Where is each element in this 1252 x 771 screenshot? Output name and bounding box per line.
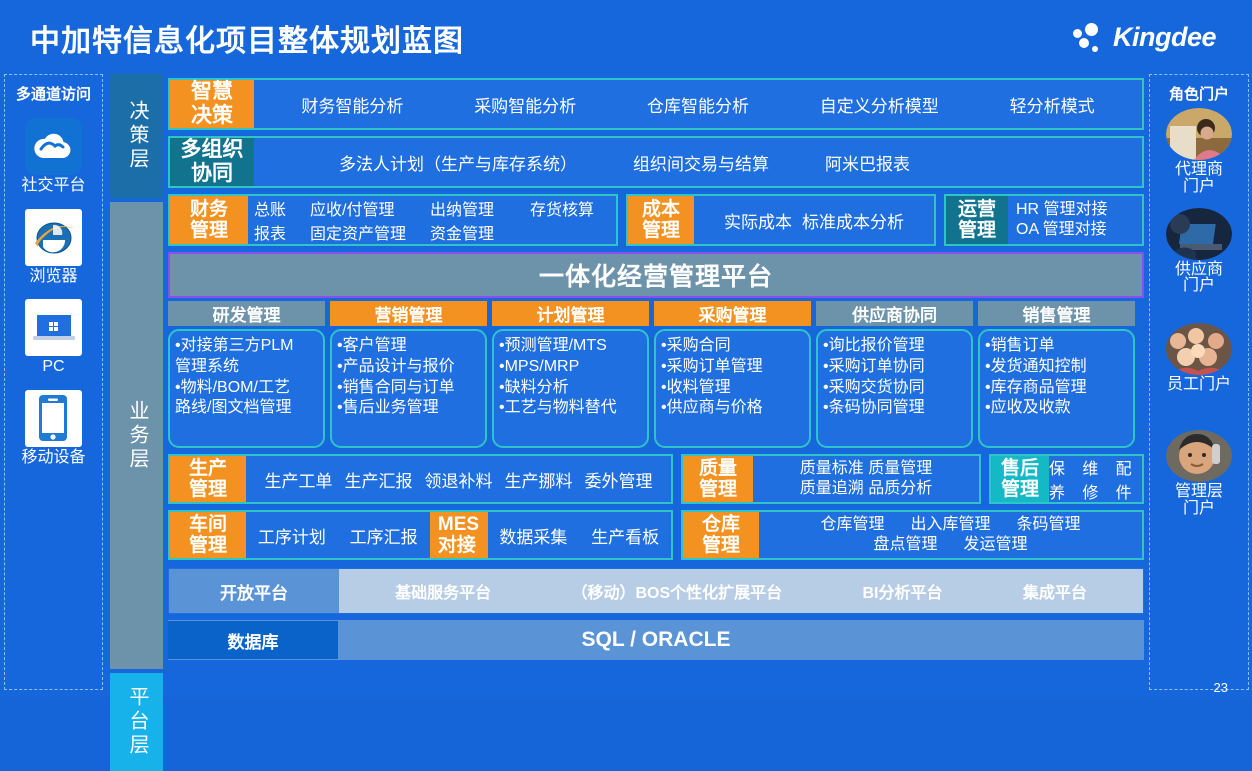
list-item[interactable]: •供应商与价格 bbox=[661, 398, 805, 419]
column-sales-body: •销售订单 •发货通知控制 •库存商品管理 •应收及收款 bbox=[978, 329, 1135, 448]
workshop-items-left: 工序计划 工序汇报 bbox=[246, 512, 430, 558]
column-planning[interactable]: 计划管理 •预测管理/MTS •MPS/MRP •缺料分析 •工艺与物料替代 bbox=[492, 301, 649, 448]
operations-block[interactable]: 运营 管理 HR 管理对接 OA 管理对接 bbox=[944, 194, 1144, 246]
list-item[interactable]: •采购订单管理 bbox=[661, 357, 805, 378]
quality-line-1[interactable]: 质量标准 质量管理 bbox=[800, 459, 932, 479]
workshop-row: 车间 管理 工序计划 工序汇报 MES 对接 数据采集 生产看板 仓库 管理 bbox=[168, 510, 1144, 560]
layer-label-decision: 决策层 bbox=[110, 74, 163, 198]
cost-items: 实际成本 标准成本分析 bbox=[694, 196, 934, 244]
right-sidebar-heading: 角色门户 bbox=[1169, 83, 1229, 104]
item-fund-mgmt[interactable]: 资金管理 bbox=[430, 220, 530, 244]
item-production-report[interactable]: 生产汇报 bbox=[345, 467, 413, 492]
warehouse-items: 仓库管理 出入库管理 条码管理 盘点管理 发运管理 bbox=[759, 512, 1142, 558]
item-standard-cost[interactable]: 标准成本分析 bbox=[802, 208, 904, 233]
smart-decision-items: 财务智能分析 采购智能分析 仓库智能分析 自定义分析模型 轻分析模式 bbox=[254, 80, 1142, 128]
workshop-tag: 车间 管理 bbox=[170, 512, 246, 558]
right-portal-sidebar: 角色门户 代理商 门户 bbox=[1149, 74, 1249, 690]
portal-supplier-label: 供应商 门户 bbox=[1175, 262, 1223, 296]
portal-employee[interactable]: 员工门户 bbox=[1166, 323, 1232, 394]
list-item[interactable]: •缺料分析 bbox=[499, 378, 643, 399]
item-finance-analysis[interactable]: 财务智能分析 bbox=[301, 92, 403, 117]
database-row: 数据库 SQL / ORACLE bbox=[168, 620, 1144, 660]
channel-browser[interactable]: 浏览器 bbox=[25, 209, 82, 286]
left-channel-sidebar: 多通道访问 社交平台 浏览器 bbox=[4, 74, 103, 690]
list-item[interactable]: •产品设计与报价 bbox=[337, 357, 481, 378]
quality-line-2[interactable]: 质量追溯 品质分析 bbox=[800, 479, 932, 499]
internet-explorer-icon-svg bbox=[29, 213, 79, 261]
avatar bbox=[1166, 430, 1232, 482]
list-item[interactable]: •客户管理 bbox=[337, 336, 481, 357]
list-item[interactable]: •采购订单协同 bbox=[823, 357, 967, 378]
cloud-icon-svg bbox=[31, 132, 75, 162]
item-repair[interactable]: 维修 bbox=[1082, 455, 1108, 503]
after-sales-tag: 售后 管理 bbox=[991, 456, 1049, 502]
quality-block[interactable]: 质量 管理 质量标准 质量管理 质量追溯 品质分析 bbox=[681, 454, 981, 504]
item-process-plan[interactable]: 工序计划 bbox=[258, 523, 326, 548]
cost-block[interactable]: 成本 管理 实际成本 标准成本分析 bbox=[626, 194, 936, 246]
channel-mobile[interactable]: 移动设备 bbox=[21, 390, 85, 467]
item-parts[interactable]: 配件 bbox=[1116, 455, 1142, 503]
item-data-collection[interactable]: 数据采集 bbox=[499, 523, 567, 548]
avatar bbox=[1166, 208, 1232, 260]
column-purchasing[interactable]: 采购管理 •采购合同 •采购订单管理 •收料管理 •供应商与价格 bbox=[654, 301, 811, 448]
manufacturing-block[interactable]: 生产 管理 生产工单 生产汇报 领退补料 生产挪料 委外管理 bbox=[168, 454, 673, 504]
column-marketing-body: •客户管理 •产品设计与报价 •销售合同与订单 •售后业务管理 bbox=[330, 329, 487, 448]
column-rd-body: •对接第三方PLM 管理系统 •物料/BOM/工艺 路线/图文档管理 bbox=[168, 329, 325, 448]
avatar-manager-icon bbox=[1166, 430, 1232, 482]
mobile-phone-icon-svg bbox=[36, 393, 70, 443]
item-barcode-mgmt[interactable]: 条码管理 bbox=[1017, 515, 1081, 535]
item-shipping-mgmt[interactable]: 发运管理 bbox=[964, 535, 1028, 555]
item-basic-service-platform[interactable]: 基础服务平台 bbox=[395, 579, 491, 603]
column-sales-title: 销售管理 bbox=[978, 301, 1135, 326]
item-light-analysis-mode[interactable]: 轻分析模式 bbox=[1010, 92, 1095, 117]
column-marketing-title: 营销管理 bbox=[330, 301, 487, 326]
item-inventory-acct[interactable]: 存货核算 bbox=[530, 196, 620, 220]
page-header: 中加特信息化项目整体规划蓝图 Kingdee bbox=[0, 0, 1252, 74]
portal-management-label: 管理层 门户 bbox=[1175, 484, 1223, 518]
list-item[interactable]: •对接第三方PLM bbox=[175, 336, 319, 357]
layer-label-decision-text: 决策层 bbox=[124, 100, 149, 172]
item-amoeba-report[interactable]: 阿米巴报表 bbox=[825, 150, 910, 175]
channel-mobile-label: 移动设备 bbox=[21, 449, 85, 467]
list-item[interactable]: •工艺与物料替代 bbox=[499, 398, 643, 419]
column-marketing[interactable]: 营销管理 •客户管理 •产品设计与报价 •销售合同与订单 •售后业务管理 bbox=[330, 301, 487, 448]
item-stocktake-mgmt[interactable]: 盘点管理 bbox=[873, 535, 937, 555]
layer-label-platform: 平台层 bbox=[110, 673, 163, 771]
item-work-order[interactable]: 生产工单 bbox=[265, 467, 333, 492]
item-integration-platform[interactable]: 集成平台 bbox=[1023, 579, 1087, 603]
warehouse-line-1: 仓库管理 出入库管理 条码管理 bbox=[820, 515, 1080, 535]
channel-social-label: 社交平台 bbox=[21, 177, 85, 195]
multi-org-items: 多法人计划（生产与库存系统） 组织间交易与结算 阿米巴报表 bbox=[254, 138, 1142, 186]
item-multi-entity-plan[interactable]: 多法人计划（生产与库存系统） bbox=[339, 150, 577, 175]
item-process-report[interactable]: 工序汇报 bbox=[350, 523, 418, 548]
page-title: 中加特信息化项目整体规划蓝图 bbox=[30, 16, 464, 60]
list-item[interactable]: •条码协同管理 bbox=[823, 398, 967, 419]
item-reports[interactable]: 报表 bbox=[254, 220, 310, 244]
list-item[interactable]: •发货通知控制 bbox=[985, 357, 1129, 378]
avatar-employee-icon bbox=[1166, 323, 1232, 375]
page-number: 23 bbox=[1214, 680, 1228, 695]
operations-items: HR 管理对接 OA 管理对接 bbox=[1008, 196, 1142, 244]
item-bi-analysis-platform[interactable]: BI分析平台 bbox=[862, 579, 942, 603]
column-rd[interactable]: 研发管理 •对接第三方PLM 管理系统 •物料/BOM/工艺 路线/图文档管理 bbox=[168, 301, 325, 448]
avatar-supplier-icon bbox=[1166, 208, 1232, 260]
list-item[interactable]: •销售订单 bbox=[985, 336, 1129, 357]
laptop-icon bbox=[25, 299, 82, 356]
list-item[interactable]: •物料/BOM/工艺 bbox=[175, 378, 319, 399]
manufacturing-items: 生产工单 生产汇报 领退补料 生产挪料 委外管理 bbox=[246, 456, 671, 502]
item-warehouse-analysis[interactable]: 仓库智能分析 bbox=[647, 92, 749, 117]
cloud-icon bbox=[25, 118, 82, 175]
finance-block[interactable]: 财务 管理 总账 应收/付管理 出纳管理 存货核算 报表 固定资产管理 资金管理 bbox=[168, 194, 618, 246]
list-item[interactable]: •MPS/MRP bbox=[499, 357, 643, 378]
column-supplier-collab-body: •询比报价管理 •采购订单协同 •采购交货协同 •条码协同管理 bbox=[816, 329, 973, 448]
after-sales-block[interactable]: 售后 管理 保养 维修 配件 bbox=[989, 454, 1144, 504]
layer-label-business: 业务层 bbox=[110, 202, 163, 669]
workshop-items-right: 数据采集 生产看板 bbox=[488, 512, 672, 558]
item-maintenance[interactable]: 保养 bbox=[1049, 455, 1075, 503]
item-ar-ap[interactable]: 应收/付管理 bbox=[310, 196, 430, 220]
item-custom-analysis-model[interactable]: 自定义分析模型 bbox=[820, 92, 939, 117]
laptop-icon-svg bbox=[28, 308, 80, 348]
channel-pc[interactable]: PC bbox=[25, 299, 82, 376]
decision-row-smart[interactable]: 智慧 决策 财务智能分析 采购智能分析 仓库智能分析 自定义分析模型 轻分析模式 bbox=[168, 78, 1144, 130]
left-sidebar-heading: 多通道访问 bbox=[16, 83, 91, 104]
item-outsourcing[interactable]: 委外管理 bbox=[585, 467, 653, 492]
warehouse-tag: 仓库 管理 bbox=[683, 512, 759, 558]
column-supplier-collab-title: 供应商协同 bbox=[816, 301, 973, 326]
item-hr-integration[interactable]: HR 管理对接 bbox=[1016, 200, 1108, 220]
column-sales[interactable]: 销售管理 •销售订单 •发货通知控制 •库存商品管理 •应收及收款 bbox=[978, 301, 1135, 448]
platform-items: 基础服务平台 （移动）BOS个性化扩展平台 BI分析平台 集成平台 bbox=[339, 579, 1143, 603]
integrated-platform-banner: 一体化经营管理平台 bbox=[168, 252, 1144, 298]
item-interorg-settlement[interactable]: 组织间交易与结算 bbox=[633, 150, 769, 175]
list-item[interactable]: 管理系统 bbox=[175, 357, 319, 378]
mobile-phone-icon bbox=[25, 390, 82, 447]
item-bos-extension-platform[interactable]: （移动）BOS个性化扩展平台 bbox=[571, 579, 782, 603]
avatar bbox=[1166, 108, 1232, 160]
list-item[interactable]: 路线/图文档管理 bbox=[175, 398, 319, 419]
warehouse-block[interactable]: 仓库 管理 仓库管理 出入库管理 条码管理 盘点管理 发运管理 bbox=[681, 510, 1144, 560]
list-item[interactable]: •售后业务管理 bbox=[337, 398, 481, 419]
item-purchase-analysis[interactable]: 采购智能分析 bbox=[474, 92, 576, 117]
after-sales-items: 保养 维修 配件 bbox=[1049, 456, 1142, 502]
kingdee-wordmark: Kingdee bbox=[1113, 22, 1216, 53]
list-item[interactable]: •库存商品管理 bbox=[985, 378, 1129, 399]
portal-agent-label: 代理商 门户 bbox=[1175, 162, 1223, 196]
portal-employee-label: 员工门户 bbox=[1167, 377, 1231, 394]
multi-org-tag: 多组织 协同 bbox=[170, 138, 254, 186]
portal-management[interactable]: 管理层 门户 bbox=[1166, 430, 1232, 518]
list-item[interactable]: •应收及收款 bbox=[985, 398, 1129, 419]
production-row: 生产 管理 生产工单 生产汇报 领退补料 生产挪料 委外管理 质量 管理 质量标… bbox=[168, 454, 1144, 504]
avatar-agent-icon bbox=[1166, 108, 1232, 160]
database-value: SQL / ORACLE bbox=[338, 628, 1144, 652]
column-purchasing-title: 采购管理 bbox=[654, 301, 811, 326]
warehouse-line-2: 盘点管理 发运管理 bbox=[873, 535, 1027, 555]
column-planning-title: 计划管理 bbox=[492, 301, 649, 326]
column-rd-title: 研发管理 bbox=[168, 301, 325, 326]
channel-pc-label: PC bbox=[42, 358, 64, 376]
finance-items: 总账 应收/付管理 出纳管理 存货核算 报表 固定资产管理 资金管理 bbox=[248, 196, 620, 244]
item-cashier[interactable]: 出纳管理 bbox=[430, 196, 530, 220]
quality-items: 质量标准 质量管理 质量追溯 品质分析 bbox=[753, 456, 979, 502]
channel-browser-label: 浏览器 bbox=[29, 268, 77, 286]
list-item[interactable]: •采购合同 bbox=[661, 336, 805, 357]
manufacturing-tag: 生产 管理 bbox=[170, 456, 246, 502]
list-item[interactable]: •预测管理/MTS bbox=[499, 336, 643, 357]
portal-agent[interactable]: 代理商 门户 bbox=[1166, 108, 1232, 196]
list-item[interactable]: •询比报价管理 bbox=[823, 336, 967, 357]
decision-row-multiorg[interactable]: 多组织 协同 多法人计划（生产与库存系统） 组织间交易与结算 阿米巴报表 bbox=[168, 136, 1144, 188]
item-oa-integration[interactable]: OA 管理对接 bbox=[1016, 220, 1107, 240]
item-material-issue[interactable]: 领退补料 bbox=[425, 467, 493, 492]
open-platform-box[interactable]: 开放平台 bbox=[169, 569, 339, 613]
layer-label-business-text: 业务层 bbox=[124, 400, 149, 472]
item-inout-mgmt[interactable]: 出入库管理 bbox=[910, 515, 990, 535]
internet-explorer-icon bbox=[25, 209, 82, 266]
item-fixed-assets[interactable]: 固定资产管理 bbox=[310, 220, 430, 244]
kingdee-dots-icon bbox=[1071, 23, 1105, 53]
mes-integration-tag: MES 对接 bbox=[430, 512, 488, 558]
finance-tag: 财务 管理 bbox=[170, 196, 248, 244]
list-item[interactable]: •销售合同与订单 bbox=[337, 378, 481, 399]
column-planning-body: •预测管理/MTS •MPS/MRP •缺料分析 •工艺与物料替代 bbox=[492, 329, 649, 448]
item-warehouse-mgmt[interactable]: 仓库管理 bbox=[820, 515, 884, 535]
diagram-content: 智慧 决策 财务智能分析 采购智能分析 仓库智能分析 自定义分析模型 轻分析模式… bbox=[168, 74, 1144, 660]
portal-supplier[interactable]: 供应商 门户 bbox=[1166, 208, 1232, 296]
column-purchasing-body: •采购合同 •采购订单管理 •收料管理 •供应商与价格 bbox=[654, 329, 811, 448]
business-columns: 研发管理 •对接第三方PLM 管理系统 •物料/BOM/工艺 路线/图文档管理 … bbox=[168, 301, 1144, 448]
database-label-box[interactable]: 数据库 bbox=[168, 621, 338, 659]
decision-row-finance: 财务 管理 总账 应收/付管理 出纳管理 存货核算 报表 固定资产管理 资金管理… bbox=[168, 194, 1144, 246]
diagram-body: 多通道访问 社交平台 浏览器 bbox=[0, 74, 1252, 697]
item-material-transfer[interactable]: 生产挪料 bbox=[505, 467, 573, 492]
channel-social[interactable]: 社交平台 bbox=[21, 118, 85, 195]
item-production-board[interactable]: 生产看板 bbox=[591, 523, 659, 548]
avatar bbox=[1166, 323, 1232, 375]
kingdee-logo: Kingdee bbox=[1071, 22, 1216, 53]
smart-decision-tag: 智慧 决策 bbox=[170, 80, 254, 128]
list-item[interactable]: •采购交货协同 bbox=[823, 378, 967, 399]
cost-tag: 成本 管理 bbox=[628, 196, 694, 244]
column-supplier-collab[interactable]: 供应商协同 •询比报价管理 •采购订单协同 •采购交货协同 •条码协同管理 bbox=[816, 301, 973, 448]
item-actual-cost[interactable]: 实际成本 bbox=[724, 208, 792, 233]
platform-services-row: 开放平台 基础服务平台 （移动）BOS个性化扩展平台 BI分析平台 集成平台 bbox=[168, 568, 1144, 614]
list-item[interactable]: •收料管理 bbox=[661, 378, 805, 399]
operations-tag: 运营 管理 bbox=[946, 196, 1008, 244]
item-general-ledger[interactable]: 总账 bbox=[254, 196, 310, 220]
workshop-block[interactable]: 车间 管理 工序计划 工序汇报 MES 对接 数据采集 生产看板 bbox=[168, 510, 673, 560]
quality-tag: 质量 管理 bbox=[683, 456, 753, 502]
